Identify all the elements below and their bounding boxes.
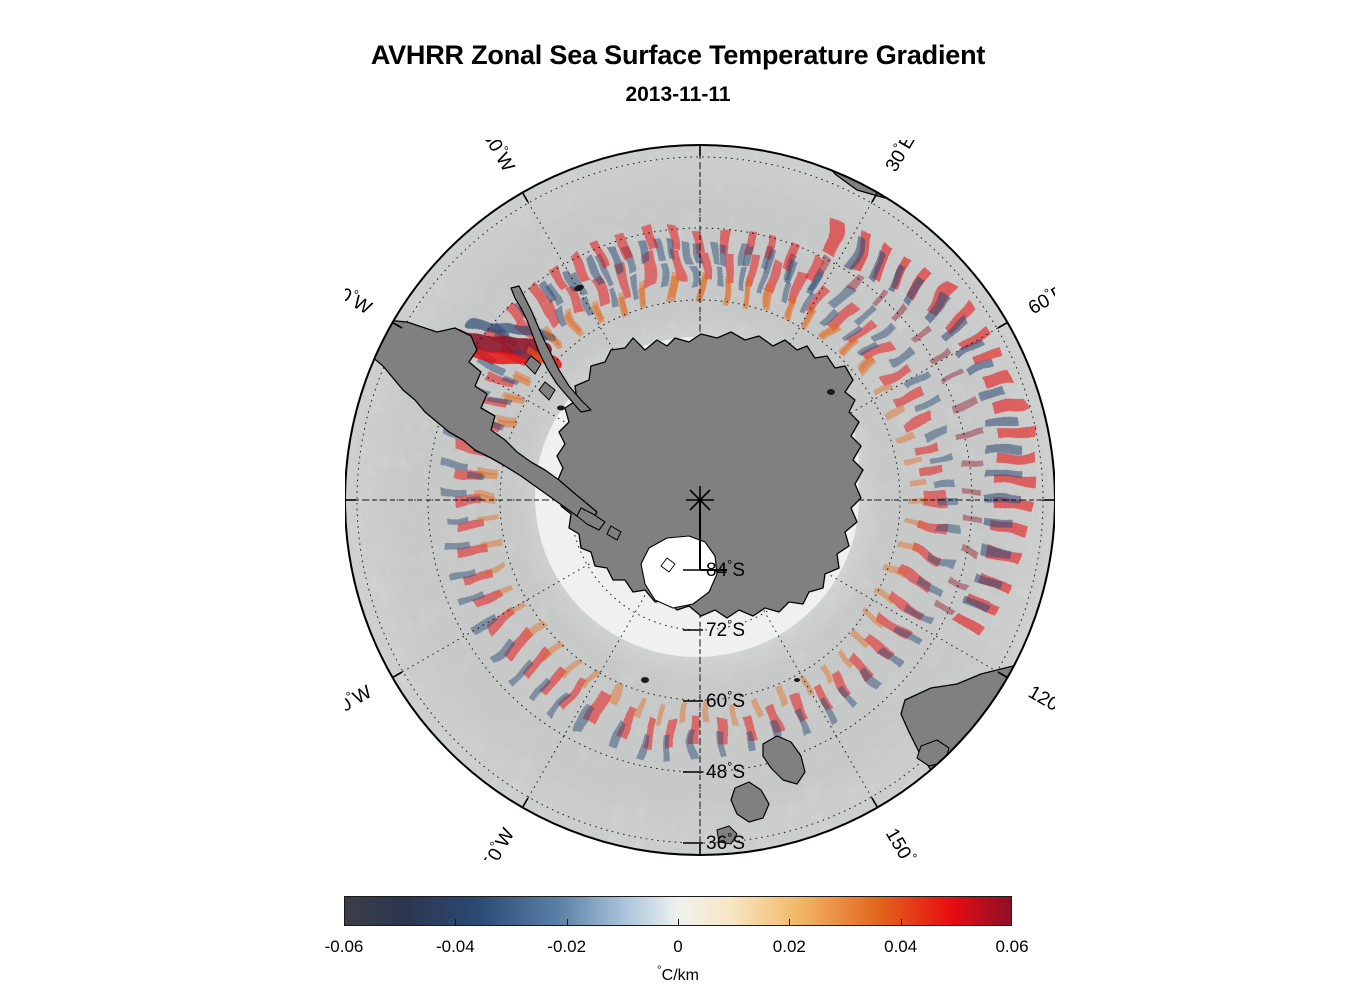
colorbar-block: -0.06-0.04-0.0200.020.040.06 °C/km [0, 896, 1356, 985]
colorbar-tick [789, 919, 790, 926]
latitude-label: 36°S [706, 830, 745, 854]
page-title: AVHRR Zonal Sea Surface Temperature Grad… [0, 38, 1356, 72]
longitude-label: 150°E [881, 823, 927, 860]
title-block: AVHRR Zonal Sea Surface Temperature Grad… [0, 38, 1356, 108]
colorbar-tick-label: -0.02 [547, 937, 586, 957]
latitude-label: 48°S [706, 759, 745, 783]
latitude-label: 84°S [706, 557, 745, 581]
longitude-label: 60°E [1023, 279, 1055, 319]
longitude-label: 120°W [345, 679, 376, 727]
colorbar-tick-label: -0.06 [325, 937, 364, 957]
longitude-label: 150°W [471, 823, 519, 860]
figure-root: AVHRR Zonal Sea Surface Temperature Grad… [0, 0, 1356, 1000]
polar-map-svg: 84°S72°S60°S48°S36°S 0°30°E60°E90°E120°E… [345, 140, 1055, 860]
colorbar-tick-label: 0.04 [884, 937, 917, 957]
colorbar-ticks [344, 896, 1012, 926]
colorbar-tick [455, 919, 456, 926]
colorbar-holder [344, 896, 1012, 930]
longitude-label: 120°E [1024, 679, 1055, 725]
colorbar-unit-label: °C/km [344, 967, 1012, 985]
colorbar-tick-label: 0 [673, 937, 682, 957]
colorbar-tick [678, 919, 679, 926]
latitude-label: 60°S [706, 688, 745, 712]
longitude-label: 30°W [478, 140, 521, 176]
colorbar-tick [901, 919, 902, 926]
colorbar-tick-label: -0.04 [436, 937, 475, 957]
colorbar-tick [567, 919, 568, 926]
latitude-label: 72°S [706, 617, 745, 641]
polar-map: 84°S72°S60°S48°S36°S 0°30°E60°E90°E120°E… [345, 140, 1055, 860]
colorbar-tick-label: 0.02 [773, 937, 806, 957]
figure-subtitle: 2013-11-11 [0, 82, 1356, 108]
colorbar-tick-labels: -0.06-0.04-0.0200.020.040.06 [344, 937, 1012, 961]
colorbar-tick-label: 0.06 [995, 937, 1028, 957]
longitude-label: 60°W [345, 276, 377, 319]
longitude-label: 30°E [879, 140, 919, 176]
